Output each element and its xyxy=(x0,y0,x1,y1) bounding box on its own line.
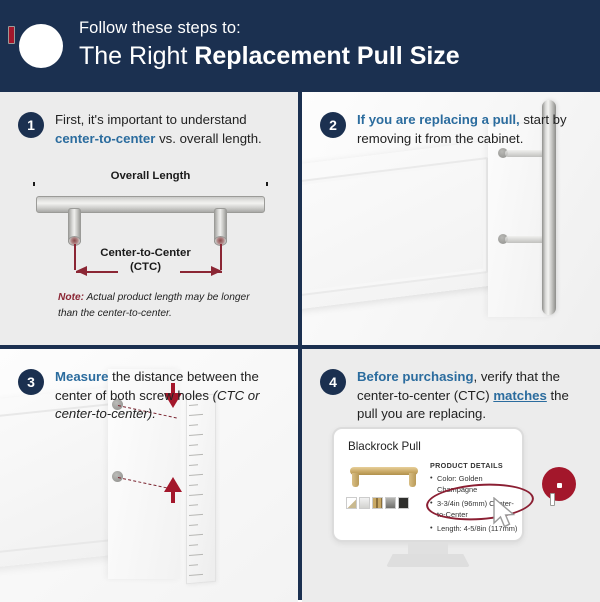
step-3-heading: 3 Measure the distance between the cente… xyxy=(18,368,288,424)
product-image xyxy=(348,462,420,490)
monitor-neck xyxy=(408,542,448,556)
page-header: Follow these steps to: The Right Replace… xyxy=(0,0,600,92)
product-thumbnail[interactable] xyxy=(398,497,409,509)
steps-grid: 1 First, it's important to understand ce… xyxy=(0,92,600,600)
exclamation-circle-icon xyxy=(19,24,63,68)
step-4-heading: 4 Before purchasing, verify that the cen… xyxy=(320,368,590,424)
step-4-panel: 4 Before purchasing, verify that the cen… xyxy=(302,349,600,602)
product-details-heading: PRODUCT DETAILS xyxy=(430,461,503,470)
step-2-heading: 2 If you are replacing a pull, start by … xyxy=(320,111,590,148)
header-text-block: Follow these steps to: The Right Replace… xyxy=(79,19,460,72)
step-3-panel: 3 Measure the distance between the cente… xyxy=(0,349,298,602)
step-2-number: 2 xyxy=(320,112,346,138)
step-2-text: If you are replacing a pull, start by re… xyxy=(357,111,573,148)
monitor-screen: Blackrock Pull PRODUCT DETAILS xyxy=(332,427,524,542)
pull-dimension-diagram: Overall Length Center-to-Center (CTC) xyxy=(28,170,273,290)
overall-length-label: Overall Length xyxy=(28,170,273,182)
note-label: Note: xyxy=(58,292,84,303)
grid-divider-horizontal xyxy=(0,345,600,349)
step-4-text-bold: Before purchasing xyxy=(357,369,474,384)
page-title-light: The Right xyxy=(79,42,194,70)
ctc-label: Center-to-Center (CTC) xyxy=(58,246,233,275)
measure-arrow-stem-bottom xyxy=(171,491,175,503)
step-4-text: Before purchasing, verify that the cente… xyxy=(357,368,573,424)
step-4-number: 4 xyxy=(320,369,346,395)
product-page-monitor: Blackrock Pull PRODUCT DETAILS xyxy=(332,427,524,567)
infographic-page: Follow these steps to: The Right Replace… xyxy=(0,0,600,600)
ctc-label-main: Center-to-Center xyxy=(58,246,233,260)
product-thumbnail[interactable] xyxy=(359,497,370,509)
step-1-text-part-1: First, it's important to understand xyxy=(55,112,247,127)
step-1-note: Note: Actual product length may be longe… xyxy=(58,290,268,322)
exclamation-circle-icon xyxy=(542,467,576,501)
page-title-bold: Replacement Pull Size xyxy=(194,42,459,70)
step-3-text-bold: Measure xyxy=(55,369,109,384)
ctc-label-sub: (CTC) xyxy=(58,260,233,274)
product-title: Blackrock Pull xyxy=(348,440,421,453)
step-1-number: 1 xyxy=(18,112,44,138)
product-thumbnail[interactable] xyxy=(385,497,396,509)
step-3-number: 3 xyxy=(18,369,44,395)
step-2-text-bold: If you are replacing a pull, xyxy=(357,112,520,127)
step-4-text-link[interactable]: matches xyxy=(493,388,547,403)
step-1-text-bold: center-to-center xyxy=(55,131,155,146)
step-1-panel: 1 First, it's important to understand ce… xyxy=(0,92,298,345)
product-thumbnail[interactable] xyxy=(372,497,383,509)
cabinet-door xyxy=(302,139,502,313)
step-1-text-part-2: vs. overall length. xyxy=(155,131,261,146)
note-text: Actual product length may be longer than… xyxy=(58,292,250,319)
step-3-text: Measure the distance between the center … xyxy=(55,368,271,424)
product-thumbnail[interactable] xyxy=(346,497,357,509)
step-1-text: First, it's important to understand cent… xyxy=(55,111,271,148)
measure-arrow-up-icon xyxy=(164,477,182,492)
header-eyebrow: Follow these steps to: xyxy=(79,19,460,39)
cabinet-door-inset xyxy=(302,157,488,299)
product-thumbnail-strip[interactable] xyxy=(346,497,409,509)
page-title: The Right Replacement Pull Size xyxy=(79,41,460,72)
step-1-heading: 1 First, it's important to understand ce… xyxy=(18,111,288,148)
monitor-base xyxy=(386,554,470,567)
step-2-panel: 2 If you are replacing a pull, start by … xyxy=(302,92,600,345)
